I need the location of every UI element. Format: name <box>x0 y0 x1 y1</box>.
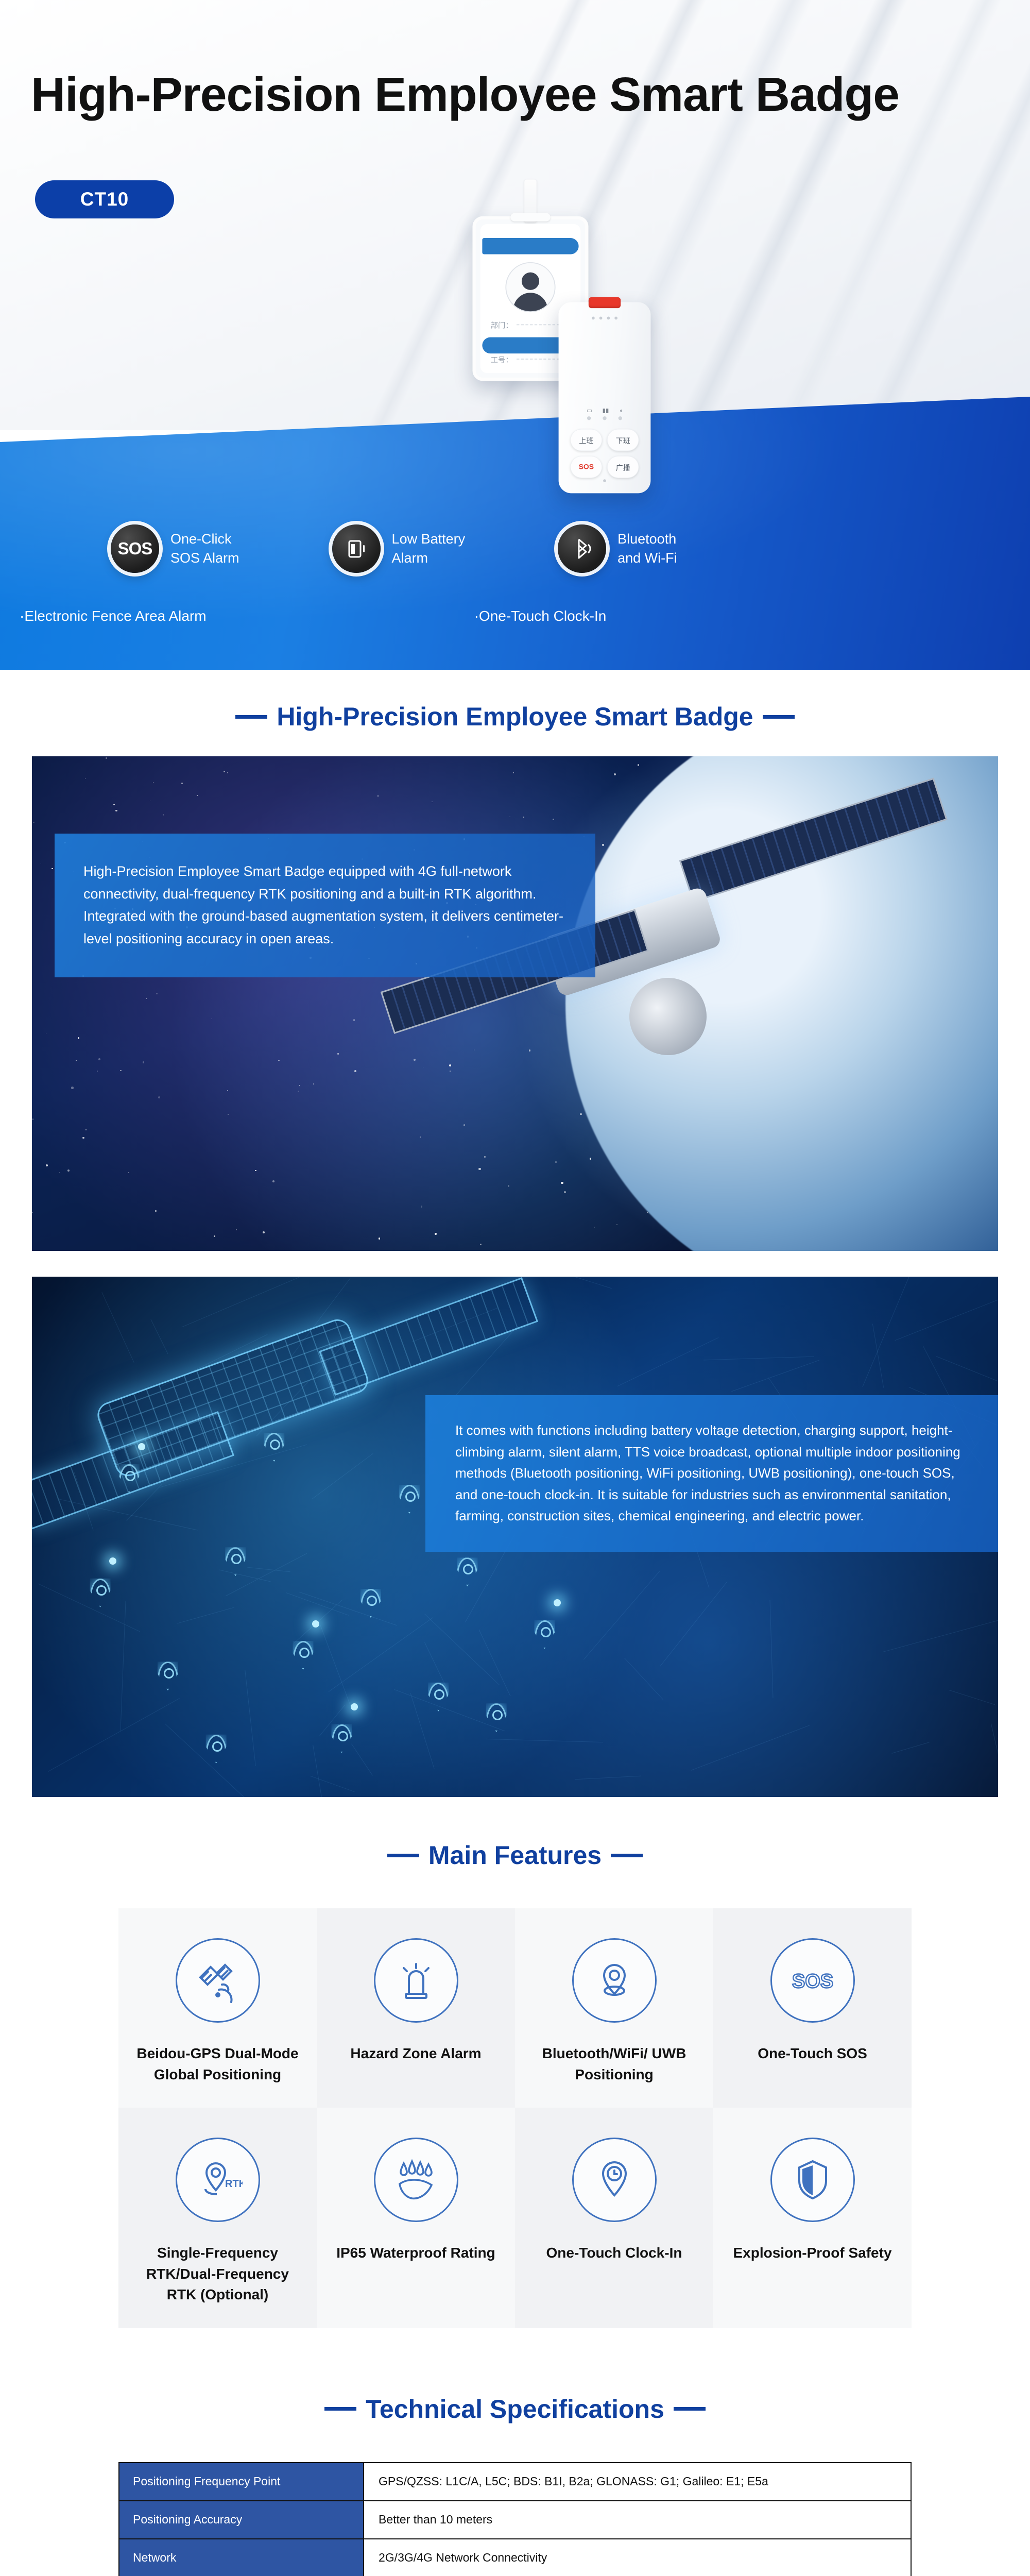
satellite-section: High-Precision Employee Smart Badge High… <box>0 670 1030 1251</box>
avatar-head <box>522 273 539 290</box>
clock-pin-icon <box>572 2138 657 2222</box>
feature-card-hazard-zone: Hazard Zone Alarm <box>317 1908 515 2108</box>
feature-card-explosion-proof: Explosion-Proof Safety <box>713 2108 912 2328</box>
page-title: High-Precision Employee Smart Badge <box>31 67 899 122</box>
spec-key: Positioning Frequency Point <box>119 2463 364 2501</box>
avatar <box>505 262 555 312</box>
feature-card-clock-in: One-Touch Clock-In <box>515 2108 713 2328</box>
hero-feature-sos-label: One-Click SOS Alarm <box>170 530 239 568</box>
badge-field-department: 部门： <box>491 319 513 331</box>
sos-icon: SOS <box>770 1938 855 2023</box>
hero-feature-battery: Low Battery Alarm <box>332 524 466 573</box>
main-features-heading: Main Features <box>0 1840 1030 1870</box>
signal-glow <box>138 1443 145 1450</box>
table-row: Positioning AccuracyBetter than 10 meter… <box>119 2501 911 2539</box>
feature-label: One-Touch Clock-In <box>546 2243 682 2264</box>
feature-card-beidou-gps: Beidou-GPS Dual-Mode Global Positioning <box>118 1908 317 2108</box>
feature-card-one-touch-sos: SOS One-Touch SOS <box>713 1908 912 2108</box>
shield-icon <box>770 2138 855 2222</box>
sos-hardware-button <box>589 297 621 308</box>
feature-card-ip65: IP65 Waterproof Rating <box>317 2108 515 2328</box>
bluetooth-icon <box>558 524 606 573</box>
product-device-image: ▭ ▮▮ ◖ 上班 下班 SOS 广播 <box>559 302 651 494</box>
location-pin-icon <box>158 1662 178 1690</box>
device-keypad: 上班 下班 SOS 广播 <box>571 429 639 478</box>
spec-value: Better than 10 meters <box>364 2501 911 2539</box>
hero-section: High-Precision Employee Smart Badge CT10… <box>0 0 1030 670</box>
network-banner-image: It comes with functions including batter… <box>32 1277 998 1797</box>
table-row: Network2G/3G/4G Network Connectivity <box>119 2539 911 2576</box>
hero-bullet-clockin: ·One-Touch Clock-In <box>474 608 607 624</box>
battery-icon: ▭ <box>587 407 592 414</box>
location-pin-icon <box>206 1735 227 1764</box>
signal-glow <box>351 1703 358 1710</box>
svg-text:RTK: RTK <box>225 2178 243 2190</box>
location-pin-icon <box>90 1579 111 1607</box>
feature-label: Hazard Zone Alarm <box>350 2043 481 2064</box>
signal-glow <box>109 1557 116 1565</box>
feature-label: Beidou-GPS Dual-Mode Global Positioning <box>132 2043 303 2085</box>
hero-feature-list: SOS One-Click SOS Alarm Low Battery Alar… <box>0 510 1030 587</box>
specifications-table: Positioning Frequency PointGPS/QZSS: L1C… <box>118 2462 912 2576</box>
model-badge: CT10 <box>35 180 174 218</box>
signal-glow <box>312 1620 319 1628</box>
spec-value: GPS/QZSS: L1C/A, L5C; BDS: B1I, B2a; GLO… <box>364 2463 911 2501</box>
spec-value: 2G/3G/4G Network Connectivity <box>364 2539 911 2576</box>
rtk-pin-icon: RTK <box>176 2138 260 2222</box>
network-section: It comes with functions including batter… <box>0 1277 1030 1797</box>
key-broadcast: 广播 <box>607 456 639 478</box>
specifications-section: Technical Specifications Positioning Fre… <box>0 2364 1030 2576</box>
hero-bullet-list: ·Electronic Fence Area Alarm ·One-Touch … <box>0 608 1030 624</box>
hero-feature-sos: SOS One-Click SOS Alarm <box>111 524 239 573</box>
location-pin-icon <box>293 1641 314 1670</box>
heading-rule-right <box>611 1854 643 1857</box>
spec-key: Network <box>119 2539 364 2576</box>
feature-label: Explosion-Proof Safety <box>733 2243 891 2264</box>
sos-icon: SOS <box>111 524 159 573</box>
location-pin-icon <box>572 1938 657 2023</box>
speaker-vents <box>592 317 617 320</box>
location-pin-icon <box>264 1433 284 1462</box>
signal-glow <box>554 1599 561 1606</box>
feature-card-indoor-positioning: Bluetooth/WiFi/ UWB Positioning <box>515 1908 713 2108</box>
table-row: Positioning Frequency PointGPS/QZSS: L1C… <box>119 2463 911 2501</box>
location-pin-icon <box>332 1724 352 1753</box>
hero-feature-battery-label: Low Battery Alarm <box>392 530 466 568</box>
location-pin-icon <box>457 1557 477 1586</box>
hero-bullet-fence: ·Electronic Fence Area Alarm <box>20 608 207 624</box>
key-clock-in: 上班 <box>571 429 603 451</box>
satellite-section-heading: High-Precision Employee Smart Badge <box>0 702 1030 732</box>
feature-label: Single-Frequency RTK/Dual-Frequency RTK … <box>132 2243 303 2306</box>
avatar-body <box>513 293 548 312</box>
location-pin-icon <box>428 1683 449 1711</box>
svg-text:SOS: SOS <box>792 1971 833 1992</box>
satellite-signal-icon <box>176 1938 260 2023</box>
heading-rule-left <box>324 2407 356 2411</box>
location-pin-icon <box>486 1703 507 1732</box>
spec-key: Positioning Accuracy <box>119 2501 364 2539</box>
tracker-device: ▭ ▮▮ ◖ 上班 下班 SOS 广播 <box>559 302 651 494</box>
location-pin-icon <box>535 1620 555 1649</box>
status-leds <box>587 416 622 420</box>
main-features-grid: Beidou-GPS Dual-Mode Global Positioning … <box>118 1908 912 2328</box>
specifications-heading: Technical Specifications <box>0 2394 1030 2424</box>
heading-rule-right <box>674 2407 706 2411</box>
volume-icon: ◖ <box>619 407 623 414</box>
badge-stripe-top <box>482 238 578 255</box>
hero-feature-bluetooth: Bluetooth and Wi-Fi <box>558 524 677 573</box>
feature-card-rtk: RTK Single-Frequency RTK/Dual-Frequency … <box>118 2108 317 2328</box>
key-clock-out: 下班 <box>607 429 639 451</box>
heading-rule-left <box>387 1854 419 1857</box>
key-sos: SOS <box>571 456 603 478</box>
location-pin-icon <box>225 1547 246 1576</box>
microphone-hole <box>603 479 606 482</box>
main-features-section: Main Features Beidou-GPS Dual-Mode Globa… <box>0 1797 1030 2364</box>
status-icon-row: ▭ ▮▮ ◖ <box>587 407 623 414</box>
badge-field-employee-id: 工号： <box>491 353 513 365</box>
heading-rule-left <box>235 715 267 719</box>
network-description-card: It comes with functions including batter… <box>425 1395 998 1552</box>
low-battery-icon <box>332 524 381 573</box>
waterdrop-icon <box>374 2138 458 2222</box>
location-pin-icon <box>399 1485 420 1514</box>
feature-label: One-Touch SOS <box>758 2043 867 2064</box>
product-detail-page: High-Precision Employee Smart Badge CT10… <box>0 0 1030 2576</box>
feature-label: IP65 Waterproof Rating <box>336 2243 495 2264</box>
hero-feature-bluetooth-label: Bluetooth and Wi-Fi <box>617 530 677 568</box>
alarm-siren-icon <box>374 1938 458 2023</box>
satellite-banner-image: High-Precision Employee Smart Badge equi… <box>32 756 998 1251</box>
feature-label: Bluetooth/WiFi/ UWB Positioning <box>528 2043 700 2085</box>
location-pin-icon <box>360 1589 381 1618</box>
heading-rule-right <box>763 715 795 719</box>
satellite-description-card: High-Precision Employee Smart Badge equi… <box>55 834 595 977</box>
badge-clip <box>510 213 550 221</box>
location-pin-icon <box>119 1464 140 1493</box>
signal-icon: ▮▮ <box>603 407 609 414</box>
